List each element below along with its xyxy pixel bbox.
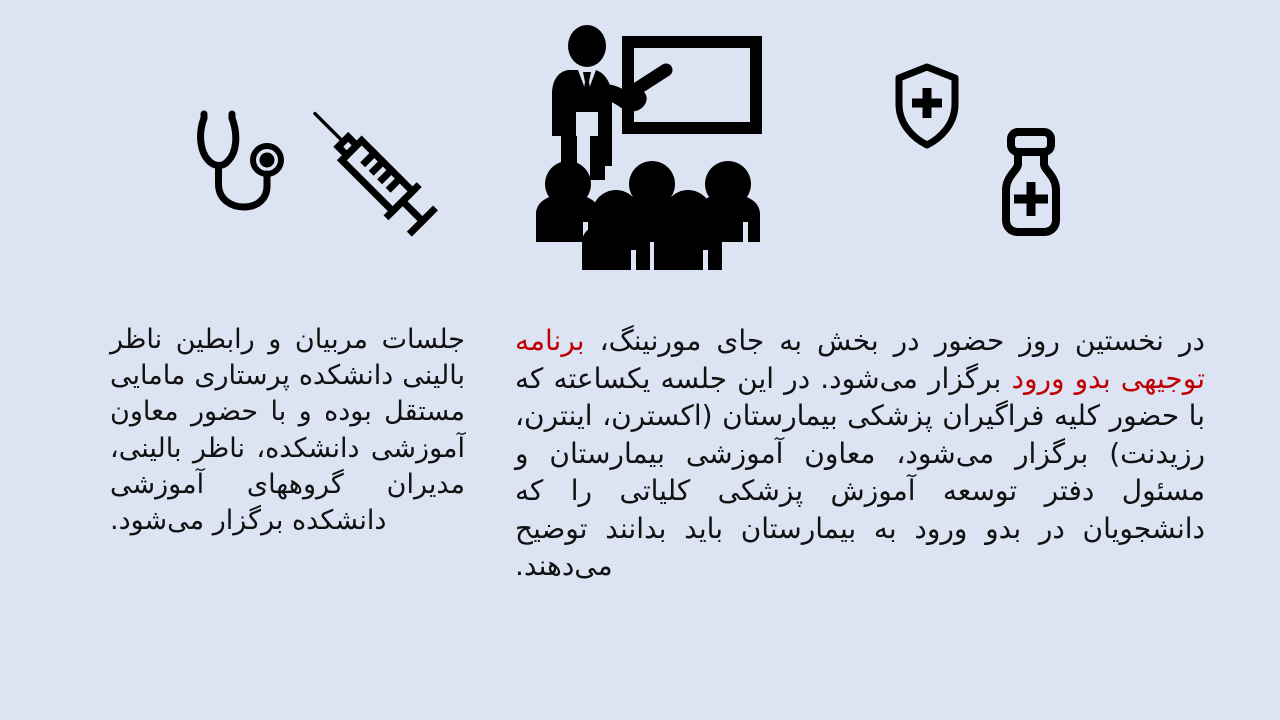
right-text-part1: در نخستین روز حضور در بخش به جای مورنینگ… (585, 324, 1205, 357)
shield-cross-icon (893, 62, 961, 150)
left-text-paragraph: جلسات مربیان و رابطین ناظر بالینی دانشکد… (110, 322, 465, 539)
presenter-audience-icon (528, 24, 778, 270)
syringe-icon (305, 110, 455, 250)
text-columns: جلسات مربیان و رابطین ناظر بالینی دانشکد… (0, 322, 1280, 662)
right-text-paragraph: در نخستین روز حضور در بخش به جای مورنینگ… (515, 322, 1205, 585)
slide-canvas: جلسات مربیان و رابطین ناظر بالینی دانشکد… (0, 0, 1280, 720)
medicine-bottle-icon (992, 128, 1070, 238)
stethoscope-icon (192, 108, 284, 220)
